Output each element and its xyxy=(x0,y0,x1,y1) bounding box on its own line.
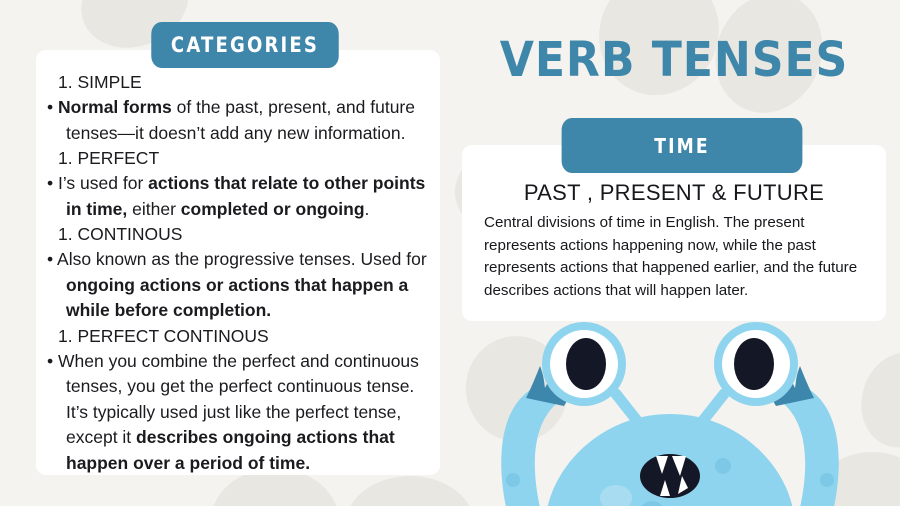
category-heading: 1. PERFECT CONTINOUS xyxy=(58,324,431,349)
page-title: VERB TENSES xyxy=(479,32,869,88)
category-heading: 1. CONTINOUS xyxy=(58,222,431,247)
category-bullet: • Also known as the progressive tenses. … xyxy=(47,247,431,324)
categories-list: 1. SIMPLE• Normal forms of the past, pre… xyxy=(46,70,431,476)
background-blob xyxy=(345,476,475,506)
categories-badge: CATEGORIES xyxy=(151,22,338,68)
category-bullet: • I’s used for actions that relate to ot… xyxy=(47,171,431,222)
mascot-right-eye xyxy=(714,322,798,406)
time-description: Central divisions of time in English. Th… xyxy=(484,212,876,302)
mascot-left-eye xyxy=(542,322,626,406)
category-heading: 1. PERFECT xyxy=(58,146,431,171)
category-heading: 1. SIMPLE xyxy=(58,70,431,95)
time-badge: TIME xyxy=(562,118,803,173)
mascot-body-spot xyxy=(715,458,731,474)
time-subtitle: PAST , PRESENT & FUTURE xyxy=(462,180,886,206)
blue-monster-mascot xyxy=(470,316,870,506)
category-bullet: • Normal forms of the past, present, and… xyxy=(47,95,431,146)
category-bullet: • When you combine the perfect and conti… xyxy=(47,349,431,477)
slide-canvas: CATEGORIES 1. SIMPLE• Normal forms of th… xyxy=(0,0,900,506)
